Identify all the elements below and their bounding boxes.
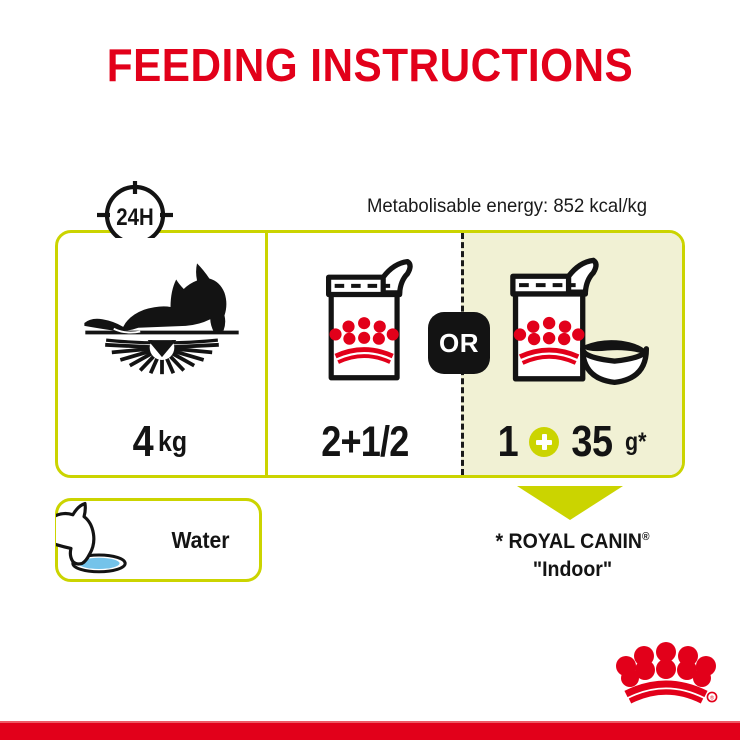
footnote-brand-text: * ROYAL CANIN <box>495 530 642 553</box>
footnote-line-1: * ROYAL CANIN® <box>468 528 677 556</box>
feeding-period-badge: 24H <box>93 178 177 238</box>
cat-weight-value: 4 kg <box>58 409 265 475</box>
food-pouch-and-bowl-icon <box>464 233 682 409</box>
badge-24h-label: 24H <box>116 203 153 230</box>
royal-canin-crown-logo: ® <box>614 638 718 704</box>
bottom-brand-bar <box>0 723 740 740</box>
wet-plus-dry-value: 1 35 g* <box>464 409 682 475</box>
pouch-count-fraction: 2+1/2 <box>321 418 408 467</box>
column-cat-weight: 4 kg <box>58 233 265 475</box>
weight-number: 4 <box>133 417 154 467</box>
down-triangle-icon <box>517 486 623 520</box>
pouch-count: 1 <box>497 417 518 467</box>
weight-unit: kg <box>158 426 187 459</box>
or-separator-badge: OR <box>428 312 490 374</box>
footnote-line-2: "Indoor" <box>468 556 677 584</box>
plus-icon <box>529 427 559 457</box>
dry-food-amount: 35 <box>571 417 612 467</box>
water-recommendation-panel: Water <box>55 498 262 582</box>
cat-drinking-water-icon <box>56 501 142 579</box>
dry-food-unit: g* <box>625 428 647 457</box>
feeding-table: 4 kg <box>55 230 685 478</box>
logo-registered-mark: ® <box>710 694 714 701</box>
footnote: * ROYAL CANIN® "Indoor" <box>460 528 685 583</box>
pouch-and-bowl-graphic <box>489 253 657 395</box>
food-pouch-graphic <box>300 254 430 394</box>
wet-food-value: 2+1/2 <box>268 409 461 475</box>
column-wet-plus-dry-food: 1 35 g* <box>461 233 682 475</box>
water-label: Water <box>147 527 255 554</box>
page-title: FEEDING INSTRUCTIONS <box>30 38 711 92</box>
registered-mark: ® <box>642 531 650 543</box>
clock-24h-icon: 24H <box>93 178 177 238</box>
cat-on-scale-icon <box>58 233 265 409</box>
metabolisable-energy-text: Metabolisable energy: 852 kcal/kg <box>331 195 683 218</box>
cat-on-scale-graphic <box>72 253 252 395</box>
